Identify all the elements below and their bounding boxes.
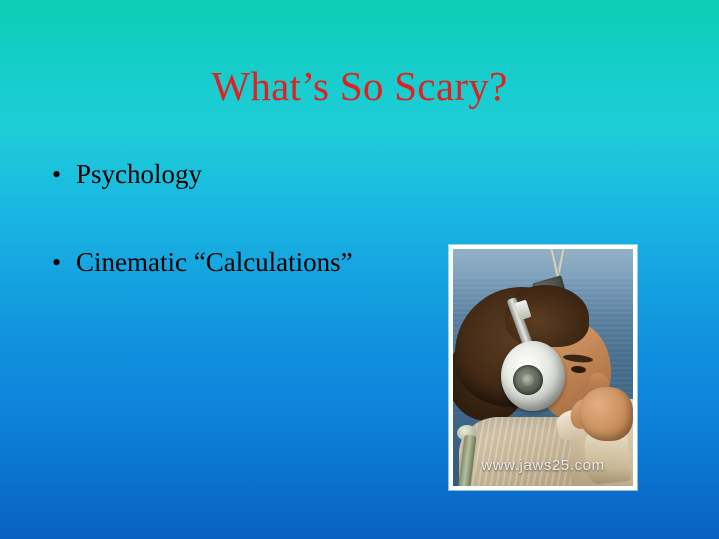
- list-item: • Psychology: [52, 158, 452, 194]
- list-item: • Cinematic “Calculations”: [52, 246, 452, 282]
- hand: [579, 387, 633, 441]
- bullet-point-icon: •: [52, 248, 76, 278]
- bullet-item-label: Cinematic “Calculations”: [76, 246, 353, 278]
- page-title: What’s So Scary?: [0, 62, 719, 110]
- bullet-list: • Psychology • Cinematic “Calculations”: [52, 158, 452, 282]
- headphone-driver: [513, 365, 543, 395]
- photo-image: www.jaws25.com: [453, 249, 633, 486]
- bullet-point-icon: •: [52, 160, 76, 190]
- photo-frame: www.jaws25.com: [449, 245, 637, 490]
- bullet-item-label: Psychology: [76, 158, 202, 190]
- presentation-slide: What’s So Scary? • Psychology • Cinemati…: [0, 0, 719, 539]
- photo-watermark: www.jaws25.com: [453, 457, 633, 474]
